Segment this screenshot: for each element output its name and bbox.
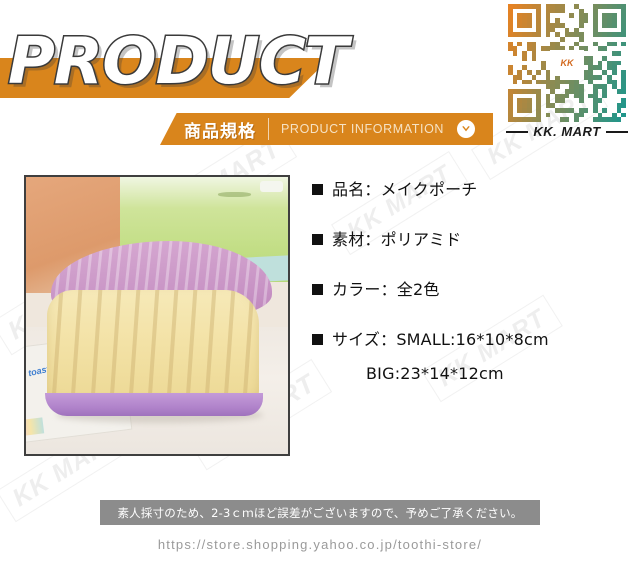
makeup-pouch-photo: my toast ! — [24, 175, 290, 456]
brand-name: KK. MART — [533, 124, 600, 139]
pouch-object — [47, 241, 272, 418]
brand-qr-block: KK KK. MART — [502, 4, 632, 139]
notice-text: 素人採寸のため、2-3ｃｍほど誤差がございますので、予めご了承ください。 — [117, 505, 522, 521]
subtitle-japanese: 商品規格 — [184, 117, 256, 142]
bullet-square-icon — [312, 184, 323, 195]
spec-item-size: サイズ：SMALL:16*10*8cm — [312, 330, 632, 350]
spec-item-name: 品名：メイクポーチ — [312, 180, 632, 200]
bullet-square-icon — [312, 334, 323, 345]
caption-rule-left — [506, 131, 528, 133]
caption-rule-right — [606, 131, 628, 133]
bullet-square-icon — [312, 234, 323, 245]
qr-center-logo: KK — [550, 50, 584, 76]
spec-size-big: BIG:23*14*12cm — [366, 364, 632, 383]
specification-list: 品名：メイクポーチ 素材：ポリアミド カラー：全2色 サイズ：SMALL:16*… — [312, 180, 632, 383]
spec-text: 素材：ポリアミド — [332, 230, 461, 250]
spec-text: 品名：メイクポーチ — [332, 180, 477, 200]
qr-code-icon[interactable]: KK — [508, 4, 626, 122]
photo-color-swatch — [24, 418, 45, 437]
page-title: PRODUCT — [8, 30, 347, 94]
spec-text: カラー：全2色 — [332, 280, 440, 300]
brand-caption: KK. MART — [502, 124, 632, 139]
section-subtitle-bar: 商品規格 PRODUCT INFORMATION — [160, 113, 493, 145]
spec-text: サイズ：SMALL:16*10*8cm — [332, 330, 549, 350]
qr-logo-text: KK — [561, 59, 574, 68]
photo-green-tag — [260, 181, 283, 192]
subtitle-divider — [268, 118, 269, 140]
product-information-page: KK MART KK MART KK MART KK MART KK MART … — [0, 0, 640, 581]
pouch-purple-trim — [45, 393, 264, 416]
chevron-down-icon — [457, 120, 475, 138]
bullet-square-icon — [312, 284, 323, 295]
store-url[interactable]: https://store.shopping.yahoo.co.jp/tooth… — [0, 537, 640, 552]
photo-green-detail — [218, 192, 252, 197]
subtitle-english: PRODUCT INFORMATION — [281, 122, 444, 136]
pouch-quilted-body — [47, 290, 259, 407]
measurement-notice-bar: 素人採寸のため、2-3ｃｍほど誤差がございますので、予めご了承ください。 — [100, 500, 540, 525]
spec-item-color: カラー：全2色 — [312, 280, 632, 300]
spec-item-material: 素材：ポリアミド — [312, 230, 632, 250]
